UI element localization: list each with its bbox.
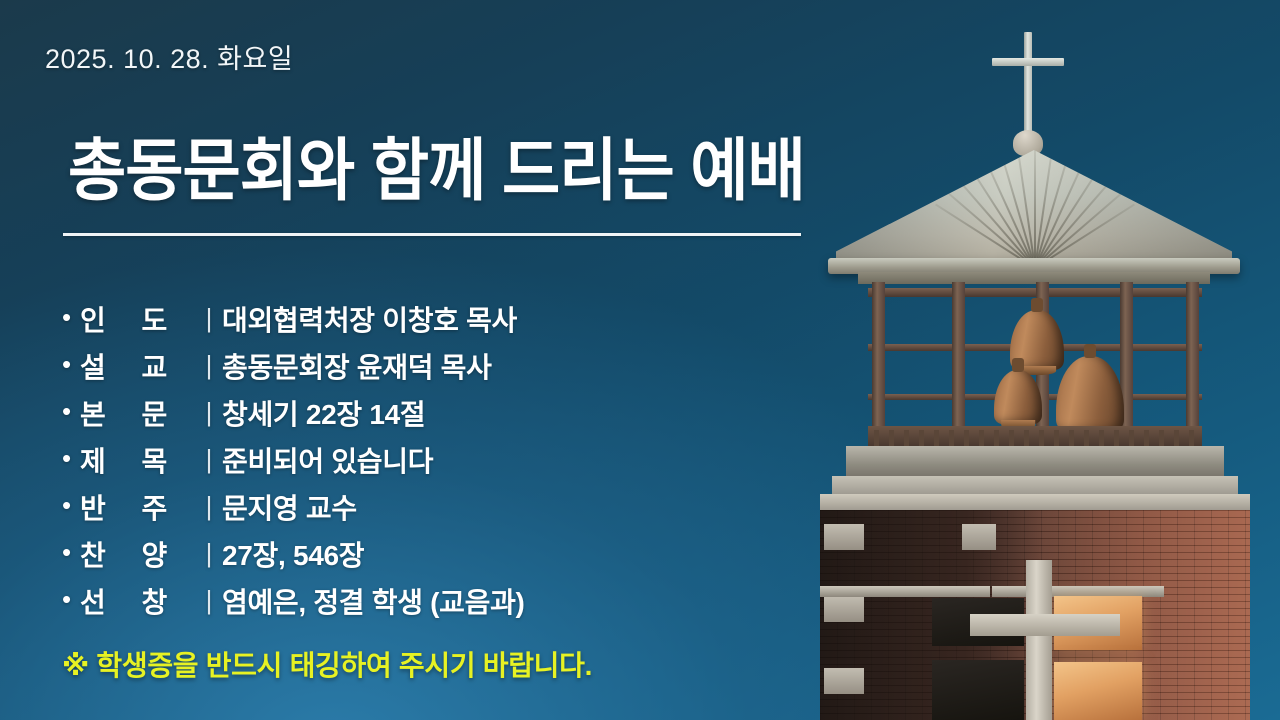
- bell-yoke: [1084, 344, 1096, 358]
- stone-quoin: [962, 524, 996, 550]
- stone-quoin: [824, 668, 864, 694]
- bell-yoke: [1012, 358, 1024, 372]
- service-info-value: 총동문회장 윤재덕 목사: [222, 346, 492, 386]
- service-info-row: •반 주|문지영 교수: [62, 483, 525, 530]
- service-info-label: 제 목: [78, 440, 196, 480]
- belfry-structure: [868, 282, 1202, 452]
- service-info-value: 염예은, 정결 학생 (교음과): [222, 581, 525, 621]
- service-info-value: 창세기 22장 14절: [222, 393, 425, 433]
- service-info-value: 준비되어 있습니다: [222, 440, 433, 480]
- bullet-icon: •: [62, 445, 78, 471]
- tower-roof: [836, 150, 1232, 268]
- bell-tower-photo: [810, 0, 1280, 720]
- bell: [1056, 356, 1124, 432]
- service-info-list: •인 도|대외협력처장 이창호 목사•설 교|총동문회장 윤재덕 목사•본 문|…: [62, 295, 525, 624]
- service-info-row: •선 창|염예은, 정결 학생 (교음과): [62, 577, 525, 624]
- service-info-row: •인 도|대외협력처장 이창호 목사: [62, 295, 525, 342]
- service-info-value: 27장, 546장: [222, 534, 364, 574]
- separator-glyph: |: [196, 350, 222, 381]
- service-info-row: •찬 양|27장, 546장: [62, 530, 525, 577]
- tower-stone-cap: [846, 446, 1224, 480]
- bullet-icon: •: [62, 398, 78, 424]
- separator-glyph: |: [196, 303, 222, 334]
- separator-glyph: |: [196, 585, 222, 616]
- service-info-label: 반 주: [78, 487, 196, 527]
- bullet-icon: •: [62, 539, 78, 565]
- service-info-value: 문지영 교수: [222, 487, 357, 527]
- window-ledge: [820, 586, 990, 597]
- service-info-label: 인 도: [78, 299, 196, 339]
- bullet-icon: •: [62, 304, 78, 330]
- stone-mullion-vertical: [1026, 560, 1052, 720]
- bell-yoke: [1031, 298, 1043, 312]
- service-info-value: 대외협력처장 이창호 목사: [222, 299, 517, 339]
- bell: [994, 370, 1042, 424]
- separator-glyph: |: [196, 491, 222, 522]
- title-divider: [63, 233, 801, 236]
- separator-glyph: |: [196, 444, 222, 475]
- service-info-label: 설 교: [78, 346, 196, 386]
- service-info-label: 본 문: [78, 393, 196, 433]
- separator-glyph: |: [196, 538, 222, 569]
- belfry-beam-top: [868, 288, 1202, 297]
- tower-window-lit: [1054, 662, 1142, 720]
- service-info-label: 선 창: [78, 581, 196, 621]
- stone-quoin: [824, 596, 864, 622]
- service-info-label: 찬 양: [78, 534, 196, 574]
- cross-icon: [1024, 32, 1032, 140]
- service-info-row: •설 교|총동문회장 윤재덕 목사: [62, 342, 525, 389]
- service-info-row: •본 문|창세기 22장 14절: [62, 389, 525, 436]
- roof-finial: [1013, 130, 1043, 156]
- bullet-icon: •: [62, 492, 78, 518]
- cross-crossbar-icon: [992, 58, 1064, 66]
- service-date: 2025. 10. 28. 화요일: [45, 37, 293, 76]
- page-title: 총동문회와 함께 드리는 예배: [68, 137, 805, 205]
- tower-window-dark: [932, 660, 1024, 720]
- bullet-icon: •: [62, 586, 78, 612]
- service-info-row: •제 목|준비되어 있습니다: [62, 436, 525, 483]
- bullet-icon: •: [62, 351, 78, 377]
- separator-glyph: |: [196, 397, 222, 428]
- attendance-notice: ※ 학생증을 반드시 태깅하여 주시기 바랍니다.: [62, 644, 592, 684]
- stone-mullion-horizontal: [970, 614, 1120, 636]
- stone-quoin: [824, 524, 864, 550]
- slide-canvas: 2025. 10. 28. 화요일 총동문회와 함께 드리는 예배 •인 도|대…: [0, 0, 1280, 720]
